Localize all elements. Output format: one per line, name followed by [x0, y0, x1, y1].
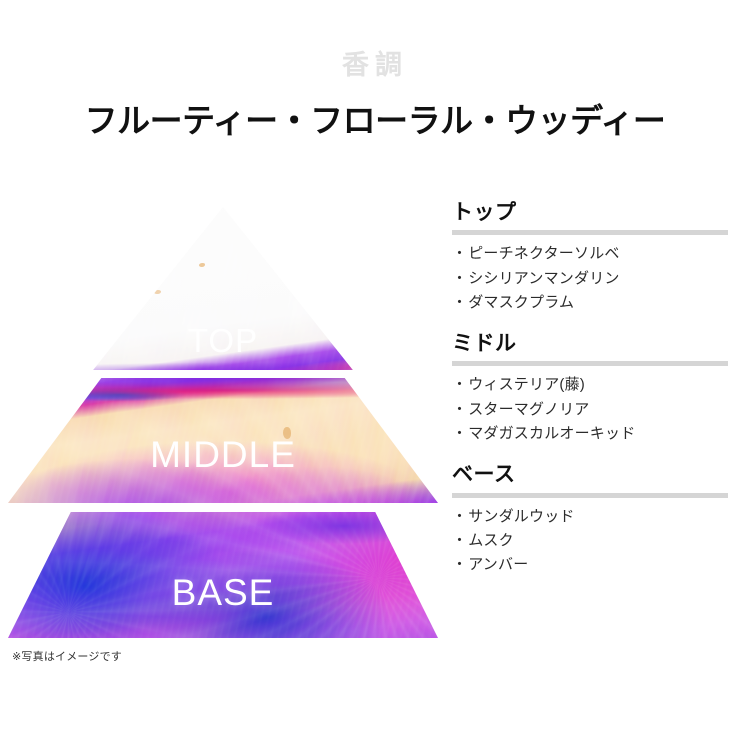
- tier-middle-artwork: [8, 378, 438, 503]
- header: 香調 フルーティー・フローラル・ウッディー: [0, 0, 750, 139]
- note-rule: [452, 493, 728, 498]
- note-heading-base: ベース: [452, 462, 728, 488]
- image-disclaimer-footnote: ※写真はイメージです: [12, 648, 122, 664]
- note-rule: [452, 361, 728, 366]
- list-item: ・マダガスカルオーキッド: [452, 422, 728, 446]
- note-item-label: アンバー: [468, 556, 528, 573]
- bullet-icon: ・: [452, 556, 467, 573]
- note-item-label: ウィステリア(藤): [468, 376, 585, 393]
- list-item: ・ピーチネクターソルベ: [452, 242, 728, 266]
- note-heading-middle: ミドル: [452, 331, 728, 357]
- bullet-icon: ・: [452, 532, 467, 549]
- artwork-speck: [283, 427, 291, 439]
- bullet-icon: ・: [452, 294, 467, 311]
- note-item-label: マダガスカルオーキッド: [468, 425, 635, 442]
- note-item-label: ピーチネクターソルベ: [468, 245, 619, 262]
- list-item: ・シシリアンマンダリン: [452, 267, 728, 291]
- note-group-base: ベース ・サンダルウッド ・ムスク ・アンバー: [452, 462, 728, 577]
- bullet-icon: ・: [452, 508, 467, 525]
- bullet-icon: ・: [452, 376, 467, 393]
- note-list-middle: ・ウィステリア(藤) ・スターマグノリア ・マダガスカルオーキッド: [452, 373, 728, 446]
- note-group-middle: ミドル ・ウィステリア(藤) ・スターマグノリア ・マダガスカルオーキッド: [452, 331, 728, 446]
- bullet-icon: ・: [452, 425, 467, 442]
- pyramid-tier-top: TOP: [8, 207, 438, 370]
- note-item-label: ムスク: [468, 532, 514, 549]
- list-item: ・ムスク: [452, 529, 728, 553]
- note-list-base: ・サンダルウッド ・ムスク ・アンバー: [452, 505, 728, 578]
- list-item: ・サンダルウッド: [452, 505, 728, 529]
- note-item-label: シシリアンマンダリン: [468, 270, 619, 287]
- fragrance-pyramid: TOP MIDDLE BASE: [8, 207, 438, 638]
- bullet-icon: ・: [452, 245, 467, 262]
- note-group-top: トップ ・ピーチネクターソルベ ・シシリアンマンダリン ・ダマスクプラム: [452, 200, 728, 315]
- pyramid-tier-middle: MIDDLE: [8, 378, 438, 503]
- tier-base-artwork: [8, 512, 438, 638]
- note-item-label: ダマスクプラム: [468, 294, 574, 311]
- header-kicker: 香調: [0, 0, 750, 79]
- note-item-label: サンダルウッド: [468, 508, 574, 525]
- note-list-top: ・ピーチネクターソルベ ・シシリアンマンダリン ・ダマスクプラム: [452, 242, 728, 315]
- artwork-wave: [8, 378, 438, 503]
- note-rule: [452, 230, 728, 235]
- bullet-icon: ・: [452, 401, 467, 418]
- fragrance-notes-column: トップ ・ピーチネクターソルベ ・シシリアンマンダリン ・ダマスクプラム ミドル…: [452, 200, 728, 577]
- list-item: ・アンバー: [452, 553, 728, 577]
- pyramid-tier-base: BASE: [8, 512, 438, 638]
- list-item: ・ウィステリア(藤): [452, 373, 728, 397]
- page-title: フルーティー・フローラル・ウッディー: [0, 79, 750, 139]
- tier-top-artwork: [8, 207, 438, 370]
- note-heading-top: トップ: [452, 200, 728, 226]
- note-item-label: スターマグノリア: [468, 401, 589, 418]
- artwork-wave: [8, 512, 438, 638]
- bullet-icon: ・: [452, 270, 467, 287]
- list-item: ・スターマグノリア: [452, 398, 728, 422]
- list-item: ・ダマスクプラム: [452, 291, 728, 315]
- artwork-wave: [8, 207, 438, 370]
